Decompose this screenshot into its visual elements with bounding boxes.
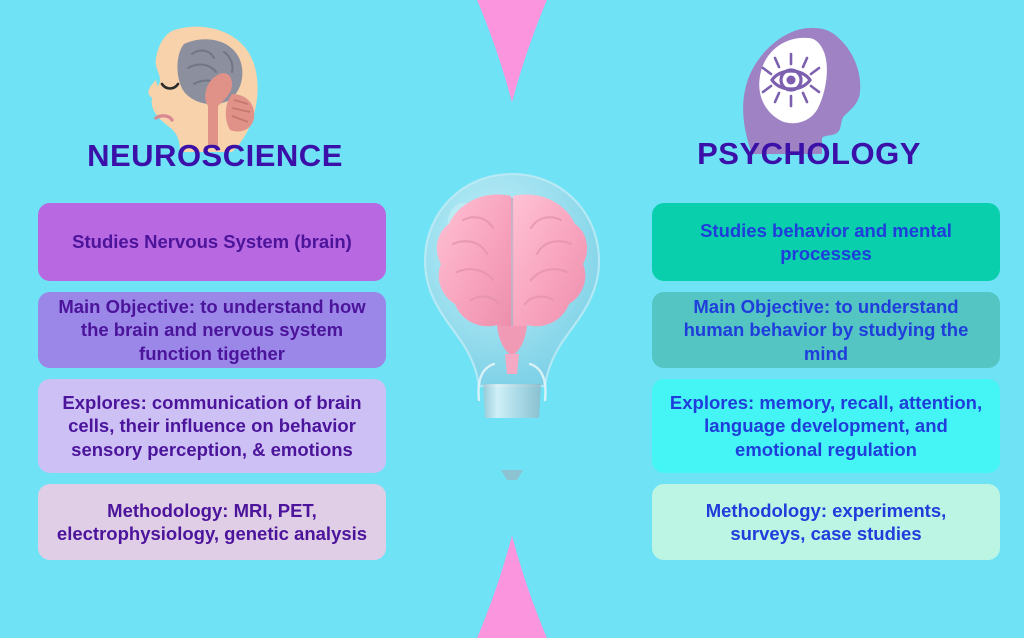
column-neuroscience: Studies Nervous System (brain) Main Obje…	[38, 203, 386, 571]
head-profile-with-eye-icon	[734, 22, 874, 154]
card-neuroscience-studies: Studies Nervous System (brain)	[38, 203, 386, 281]
card-psychology-explores: Explores: memory, recall, attention, lan…	[652, 379, 1000, 473]
card-psychology-objective: Main Objective: to understand human beha…	[652, 292, 1000, 368]
page-title-neuroscience: NEUROSCIENCE	[25, 138, 405, 174]
infographic-canvas: NEUROSCIENCE PSYCHOLOGY Studies Nervous …	[0, 0, 1024, 638]
card-psychology-methodology: Methodology: experiments, surveys, case …	[652, 484, 1000, 560]
column-psychology: Studies behavior and mental processes Ma…	[652, 203, 1000, 571]
card-neuroscience-objective: Main Objective: to understand how the br…	[38, 292, 386, 368]
card-psychology-studies: Studies behavior and mental processes	[652, 203, 1000, 281]
card-neuroscience-explores: Explores: communication of brain cells, …	[38, 379, 386, 473]
card-neuroscience-methodology: Methodology: MRI, PET, electrophysiology…	[38, 484, 386, 560]
head-profile-with-brain-icon	[140, 22, 280, 152]
page-title-psychology: PSYCHOLOGY	[619, 136, 999, 172]
